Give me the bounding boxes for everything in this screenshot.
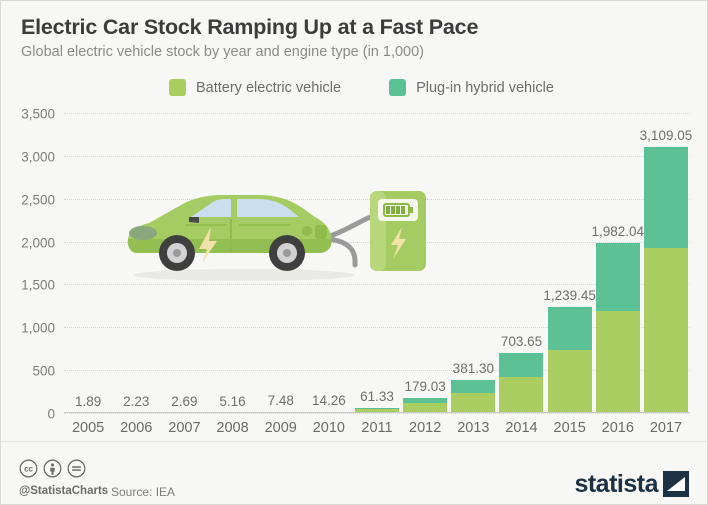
bar-segment-plugin-hybrid[interactable] [548,307,592,350]
bar-value-label: 5.16 [219,394,245,409]
bar-stack [644,147,688,413]
x-axis-tick-label: 2008 [208,415,256,436]
bar-segment-battery-electric[interactable] [644,248,688,413]
y-axis-tick-label: 1,500 [21,278,55,293]
cc-icon: cc [19,459,38,478]
statista-wordmark: statista [574,472,658,497]
y-axis-tick-label: 2,500 [21,192,55,207]
footer-divider [1,441,707,442]
y-axis-tick-label: 0 [47,407,55,422]
bar-segment-plugin-hybrid[interactable] [596,243,640,311]
statista-handle: @StatistaCharts [19,485,108,497]
source-note: Source: IEA [111,485,175,499]
axis-baseline [64,412,690,413]
bar-value-label: 381.30 [453,361,494,376]
y-axis-tick-label: 3,000 [21,149,55,164]
bar-value-label: 61.33 [360,389,394,404]
bar-segment-battery-electric[interactable] [548,350,592,413]
bar-segment-plugin-hybrid[interactable] [451,380,495,392]
charging-station-icon [370,191,426,271]
y-axis-tick-label: 1,000 [21,321,55,336]
bar-stack [451,380,495,413]
bar-value-label: 1,982.04 [592,224,645,239]
x-axis-tick-label: 2005 [64,415,112,436]
bar-stack [499,353,543,413]
bar-segment-battery-electric[interactable] [596,311,640,413]
svg-text:cc: cc [24,465,33,474]
bar-value-label: 3,109.05 [640,128,693,143]
x-axis-tick-label: 2007 [160,415,208,436]
x-axis-tick-label: 2006 [112,415,160,436]
legend-swatch-icon [389,79,406,96]
bar-value-label: 7.48 [268,393,294,408]
y-axis-tick-label: 2,000 [21,235,55,250]
bar-column[interactable]: 1,239.45 [546,113,594,413]
legend-item-label: Battery electric vehicle [196,80,341,96]
statista-logo: statista [574,471,689,497]
bar-column[interactable]: 3,109.05 [642,113,690,413]
y-axis-tick-label: 3,500 [21,107,55,122]
bar-value-label: 1.89 [75,394,101,409]
bar-value-label: 2.69 [171,394,197,409]
bar-column[interactable]: 1,982.04 [594,113,642,413]
bar-stack [548,307,592,413]
legend-item-label: Plug-in hybrid vehicle [416,80,554,96]
bar-segment-battery-electric[interactable] [499,377,543,413]
x-axis-tick-label: 2016 [594,415,642,436]
electric-car-icon [128,195,332,271]
cc-by-icon [43,459,62,478]
x-axis-tick-label: 2014 [497,415,545,436]
x-axis-tick-label: 2010 [305,415,353,436]
x-axis-tick-label: 2011 [353,415,401,436]
bar-segment-plugin-hybrid[interactable] [644,147,688,248]
legend-swatch-icon [169,79,186,96]
bar-stack [596,243,640,413]
x-axis-tick-label: 2012 [401,415,449,436]
bar-value-label: 703.65 [501,334,542,349]
x-axis-labels: 2005200620072008200920102011201220132014… [64,415,690,436]
x-axis-tick-label: 2009 [257,415,305,436]
page-title: Electric Car Stock Ramping Up at a Fast … [21,15,478,40]
page-subtitle: Global electric vehicle stock by year an… [21,44,424,60]
legend-item-0[interactable]: Battery electric vehicle [169,79,341,96]
bar-value-label: 1,239.45 [543,288,596,303]
legend-item-1[interactable]: Plug-in hybrid vehicle [389,79,554,96]
bar-value-label: 14.26 [312,393,346,408]
bar-segment-plugin-hybrid[interactable] [499,353,543,377]
bar-column[interactable]: 1.89 [64,113,112,413]
statista-mark-icon [663,471,689,497]
chart-legend: Battery electric vehiclePlug-in hybrid v… [169,79,602,96]
electric-car-charging-illustration [119,169,439,289]
bar-column[interactable]: 381.30 [449,113,497,413]
cc-nd-icon [67,459,86,478]
y-axis-tick-label: 500 [32,364,55,379]
x-axis-tick-label: 2015 [546,415,594,436]
chart-card: Electric Car Stock Ramping Up at a Fast … [0,0,708,505]
bar-stack [403,398,447,413]
x-axis-tick-label: 2017 [642,415,690,436]
x-axis-tick-label: 2013 [449,415,497,436]
bar-column[interactable]: 703.65 [497,113,545,413]
gridline: 0 [64,413,690,414]
bar-value-label: 2.23 [123,394,149,409]
creative-commons-icons: cc [19,459,86,478]
bar-segment-battery-electric[interactable] [451,393,495,413]
bar-value-label: 179.03 [405,379,446,394]
